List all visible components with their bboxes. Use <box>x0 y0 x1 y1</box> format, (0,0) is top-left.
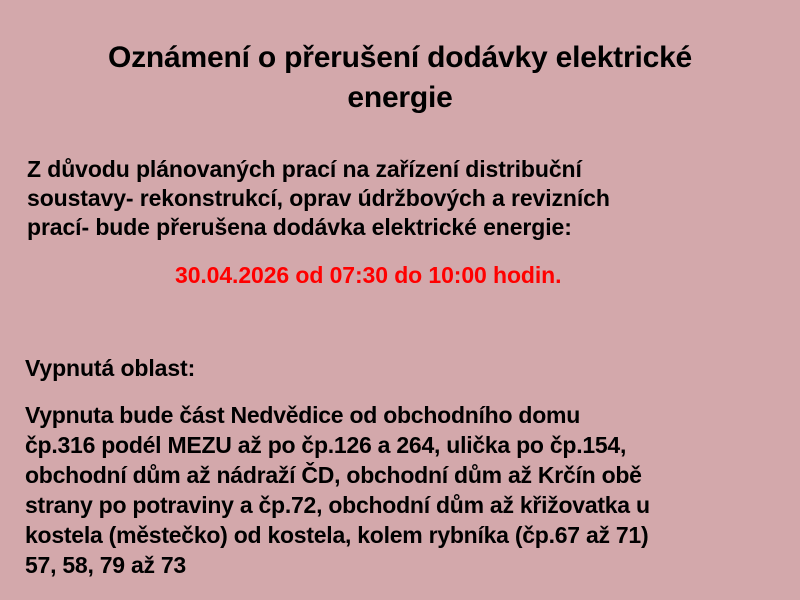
page-title-line-2: energie <box>347 81 452 114</box>
page-title-line-1: Oznámení o přerušení dodávky elektrické <box>108 41 692 74</box>
intro-line-1: Z důvodu plánovaných prací na zařízení d… <box>27 156 582 182</box>
outage-time-text: 30.04.2026 od 07:30 do 10:00 hodin. <box>175 261 561 290</box>
outage-notice-page: Oznámení o přerušení dodávky elektrické … <box>0 0 800 600</box>
area-description-line: kostela (městečko) od kostela, kolem ryb… <box>25 520 777 550</box>
affected-area-label: Vypnutá oblast: <box>25 354 195 383</box>
area-description-line: obchodní dům až nádraží ČD, obchodní dům… <box>25 460 777 490</box>
area-description-line: Vypnuta bude část Nedvědice od obchodníh… <box>25 400 777 430</box>
intro-paragraph: Z důvodu plánovaných prací na zařízení d… <box>27 155 767 242</box>
area-description-line: čp.316 podél MEZU až po čp.126 a 264, ul… <box>25 430 777 460</box>
affected-area-description: Vypnuta bude část Nedvědice od obchodníh… <box>25 400 777 580</box>
intro-line-2: soustavy- rekonstrukcí, oprav údržbových… <box>27 185 610 211</box>
intro-line-3: prací- bude přerušena dodávka elektrické… <box>27 214 572 240</box>
page-title: Oznámení o přerušení dodávky elektrické … <box>40 38 760 118</box>
area-description-line: strany po potraviny a čp.72, obchodní dů… <box>25 490 777 520</box>
area-description-line: 57, 58, 79 až 73 <box>25 550 777 580</box>
